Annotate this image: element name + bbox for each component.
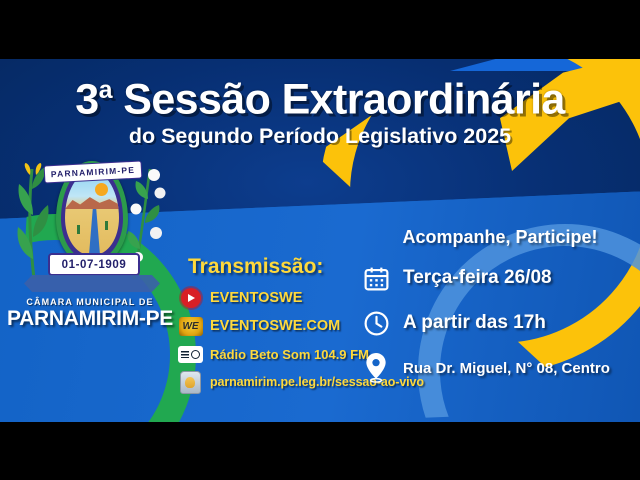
clock-icon [360, 307, 392, 339]
transmission-item-label: Rádio Beto Som 104.9 FM [210, 347, 369, 362]
sun-icon [95, 183, 108, 196]
info-item-date: Terça-feira 26/08 [360, 262, 640, 294]
info-item-address: Rua Dr. Miguel, N° 08, Centro [360, 352, 640, 384]
page-title: 3a Sessão Extraordinária [0, 78, 640, 121]
eventoswe-logo-icon: WE [178, 316, 203, 336]
emblem-foundation-date: 01-07-1909 [48, 253, 140, 276]
info-item-time: A partir das 17h [360, 307, 640, 339]
radio-icon [178, 344, 203, 364]
session-title: Sessão Extraordinária [112, 75, 565, 123]
letterbox-bottom [0, 422, 640, 480]
transmission-item-website[interactable]: WE EVENTOSWE.COM [178, 316, 388, 336]
session-ordinal: a [99, 76, 112, 104]
cactus-shape [77, 225, 80, 234]
river-shape [89, 209, 100, 255]
info-section: Acompanhe, Participe! Terça-feira 26/08 [360, 227, 640, 397]
emblem-caption-main: PARNAMIRIM-PE [6, 307, 174, 331]
headline-block: 3a Sessão Extraordinária do Segundo Perí… [0, 78, 640, 149]
transmission-item-label: EVENTOSWE [210, 290, 302, 306]
calendar-icon [360, 262, 392, 294]
transmission-section: Transmissão: EVENTOSWE WE EVENTOSWE.COM … [178, 255, 388, 400]
brasao-icon [178, 372, 203, 392]
emblem-ribbon-bottom [24, 275, 160, 292]
info-item-label: Rua Dr. Miguel, N° 08, Centro [403, 360, 610, 377]
mountains-shape [65, 193, 119, 209]
youtube-icon [178, 288, 203, 308]
info-item-label: A partir das 17h [403, 312, 546, 334]
transmission-item-label: EVENTOSWE.COM [210, 318, 340, 334]
video-frame: 3a Sessão Extraordinária do Segundo Perí… [0, 59, 640, 422]
coat-of-arms: PARNAMIRIM-PE 01-07-1909 CÂMARA MUNICIPA… [6, 157, 174, 347]
transmission-heading: Transmissão: [188, 255, 388, 279]
letterbox-top [0, 0, 640, 59]
info-item-label: Terça-feira 26/08 [403, 267, 552, 289]
transmission-item-youtube[interactable]: EVENTOSWE [178, 288, 388, 308]
location-pin-icon [360, 352, 392, 384]
info-heading: Acompanhe, Participe! [360, 227, 640, 248]
cactus-shape [105, 221, 108, 230]
transmission-item-radio[interactable]: Rádio Beto Som 104.9 FM [178, 344, 388, 364]
emblem-caption-top: CÂMARA MUNICIPAL DE [6, 297, 174, 307]
video-stage: 3a Sessão Extraordinária do Segundo Perí… [0, 0, 640, 480]
page-subtitle: do Segundo Período Legislativo 2025 [0, 124, 640, 149]
shield-scene [65, 171, 119, 255]
session-number: 3 [75, 75, 98, 123]
transmission-item-site[interactable]: parnamirim.pe.leg.br/sessao-ao-vivo [178, 372, 388, 392]
